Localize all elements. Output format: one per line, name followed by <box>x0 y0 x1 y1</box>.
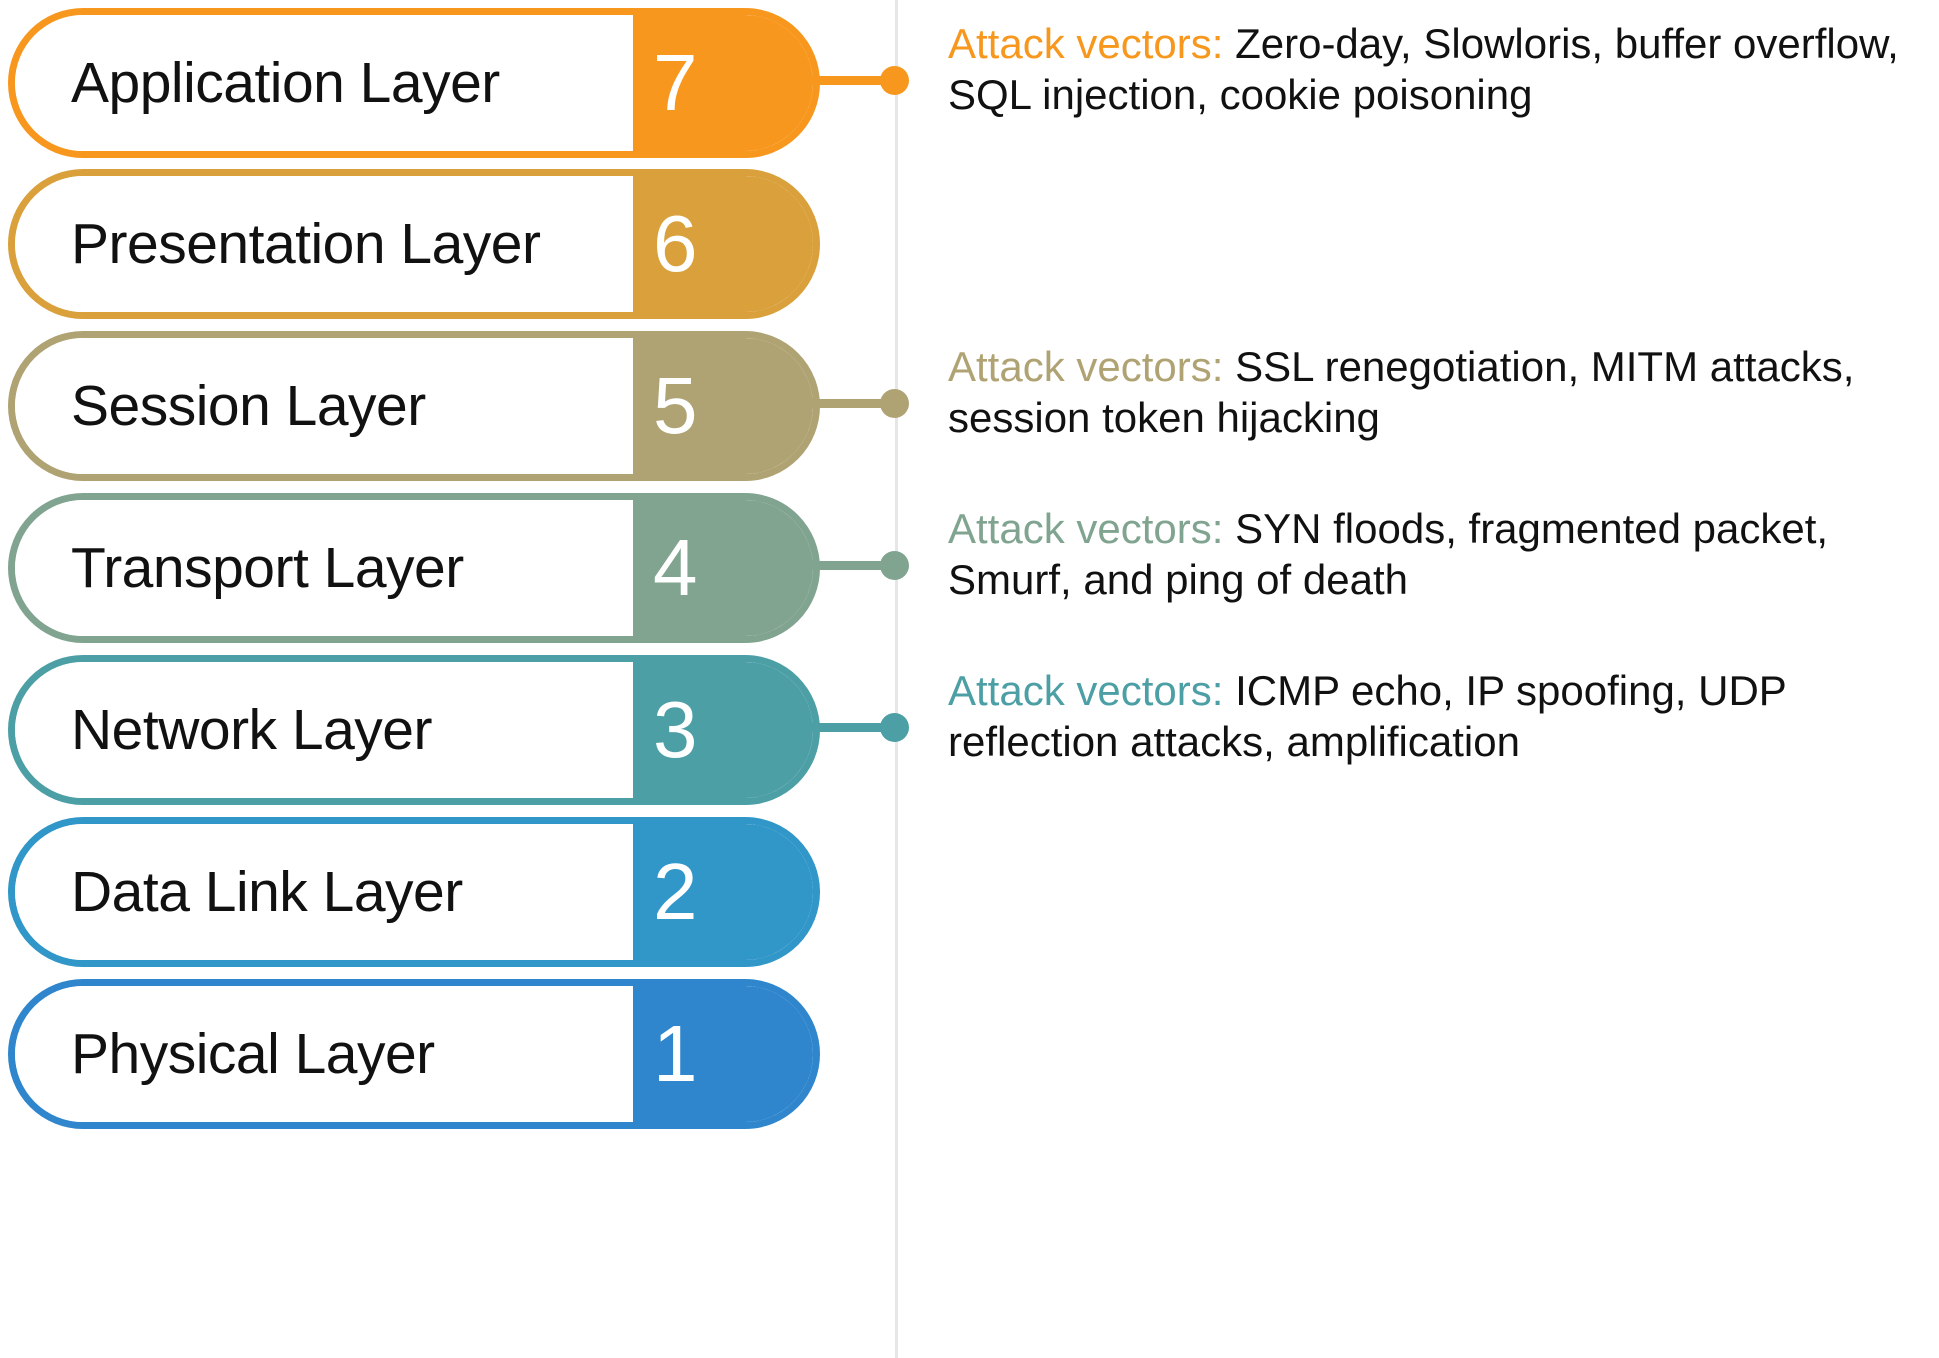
layer-1-row: Physical Layer1 <box>0 973 1939 1135</box>
layer-5-description: Attack vectors: SSL renegotiation, MITM … <box>948 341 1939 443</box>
layer-3-connector-dot <box>880 713 909 742</box>
layer-1-pill[interactable]: Physical Layer1 <box>8 979 820 1129</box>
layer-2-row: Data Link Layer2 <box>0 811 1939 973</box>
layer-7-description: Attack vectors: Zero-day, Slowloris, buf… <box>948 18 1939 120</box>
osi-layers-diagram: Application Layer7Presentation Layer6Ses… <box>0 0 1939 1358</box>
layer-1-label-area: Physical Layer <box>15 986 633 1122</box>
layer-7-pill[interactable]: Application Layer7 <box>8 8 820 158</box>
layer-1-number-area: 1 <box>633 986 813 1122</box>
layer-6-number: 6 <box>653 204 698 284</box>
layer-6-pill[interactable]: Presentation Layer6 <box>8 169 820 319</box>
layer-2-number: 2 <box>653 852 698 932</box>
layer-3-label: Network Layer <box>71 702 432 759</box>
layer-7-number-area: 7 <box>633 15 813 151</box>
layer-6-number-area: 6 <box>633 176 813 312</box>
layer-4-description: Attack vectors: SYN floods, fragmented p… <box>948 503 1939 605</box>
layer-5-number-area: 5 <box>633 338 813 474</box>
layer-7-label-area: Application Layer <box>15 15 633 151</box>
layer-4-attack-vectors-label: Attack vectors: <box>948 505 1223 552</box>
layer-7-number: 7 <box>653 43 698 123</box>
layer-3-description: Attack vectors: ICMP echo, IP spoofing, … <box>948 665 1939 767</box>
layer-4-label-area: Transport Layer <box>15 500 633 636</box>
layer-3-attack-vectors-label: Attack vectors: <box>948 667 1223 714</box>
layer-3-pill[interactable]: Network Layer3 <box>8 655 820 805</box>
layer-1-number: 1 <box>653 1014 698 1094</box>
layer-6-label-area: Presentation Layer <box>15 176 633 312</box>
layer-7-label: Application Layer <box>71 55 500 112</box>
layer-2-label: Data Link Layer <box>71 864 463 921</box>
layer-5-number: 5 <box>653 366 698 446</box>
layer-4-connector-dot <box>880 551 909 580</box>
layer-3-number: 3 <box>653 690 698 770</box>
layer-1-label: Physical Layer <box>71 1026 435 1083</box>
layer-6-row: Presentation Layer6 <box>0 163 1939 325</box>
layer-7-attack-vectors-label: Attack vectors: <box>948 20 1223 67</box>
layer-4-number: 4 <box>653 528 698 608</box>
layer-2-label-area: Data Link Layer <box>15 824 633 960</box>
layer-2-pill[interactable]: Data Link Layer2 <box>8 817 820 967</box>
layer-5-label: Session Layer <box>71 378 426 435</box>
layer-7-connector-dot <box>880 66 909 95</box>
layer-5-label-area: Session Layer <box>15 338 633 474</box>
layer-4-number-area: 4 <box>633 500 813 636</box>
layer-4-label: Transport Layer <box>71 540 464 597</box>
layer-3-number-area: 3 <box>633 662 813 798</box>
layer-6-label: Presentation Layer <box>71 216 540 273</box>
layer-5-attack-vectors-label: Attack vectors: <box>948 343 1223 390</box>
layer-5-connector-dot <box>880 389 909 418</box>
layer-5-pill[interactable]: Session Layer5 <box>8 331 820 481</box>
layer-3-label-area: Network Layer <box>15 662 633 798</box>
layer-2-number-area: 2 <box>633 824 813 960</box>
layer-4-pill[interactable]: Transport Layer4 <box>8 493 820 643</box>
